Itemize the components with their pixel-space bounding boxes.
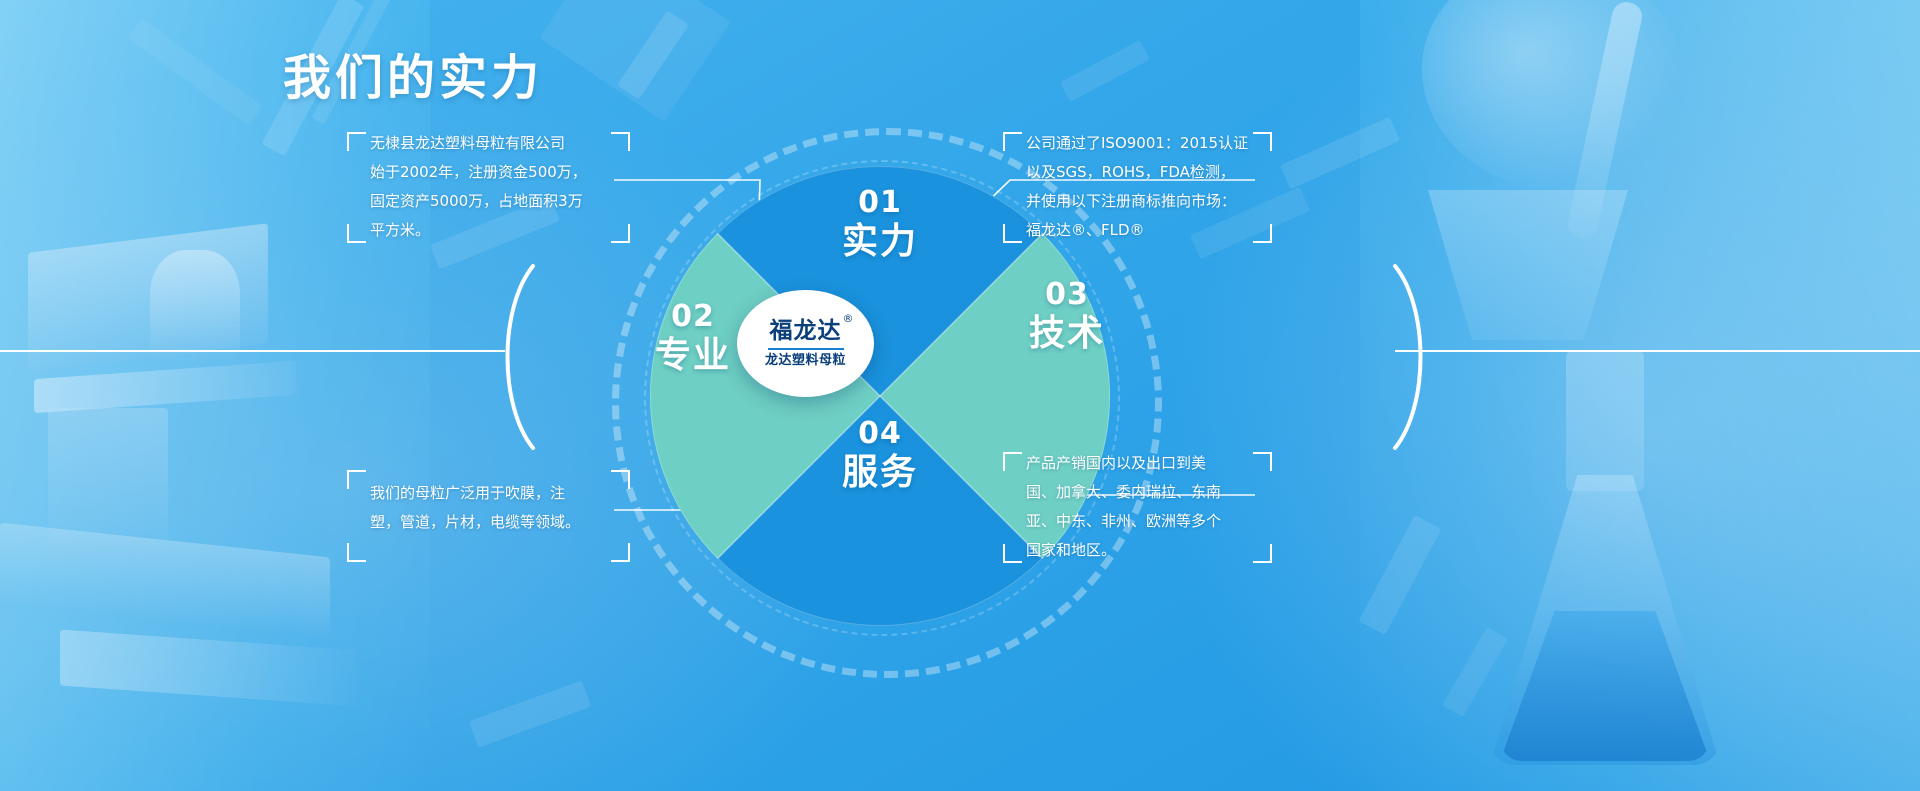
horizontal-rule-right	[1395, 350, 1920, 352]
logo-name: 福龙达 ®	[770, 320, 842, 343]
callout-line: 公司通过了ISO9001：2015认证	[1026, 129, 1250, 158]
page-title: 我们的实力	[283, 38, 543, 108]
corner-bracket-icon	[611, 132, 630, 151]
company-logo[interactable]: 福龙达 ® 龙达塑料母粒	[737, 290, 874, 397]
corner-bracket-icon	[1253, 544, 1272, 563]
right-bracket-arc	[1381, 262, 1441, 452]
logo-divider	[768, 348, 844, 350]
logo-subtitle: 龙达塑料母粒	[765, 354, 846, 367]
corner-bracket-icon	[347, 132, 366, 151]
flask-neck-shape	[1566, 351, 1644, 491]
logo-name-text: 福龙达	[770, 318, 842, 344]
corner-bracket-icon	[1253, 132, 1272, 151]
callout-line: 国、加拿大、委内瑞拉、东南	[1026, 478, 1250, 507]
corner-bracket-icon	[1003, 132, 1022, 151]
corner-bracket-icon	[347, 543, 366, 562]
corner-bracket-icon	[611, 224, 630, 243]
callout-service: 产品产销国内以及出口到美 国、加拿大、委内瑞拉、东南 亚、中东、非州、欧洲等多个…	[1026, 449, 1250, 565]
callout-line: 平方米。	[370, 216, 610, 245]
callout-line: 始于2002年，注册资金500万，	[370, 158, 610, 187]
registered-mark-icon: ®	[843, 313, 855, 324]
callout-line: 无棣县龙达塑料母粒有限公司	[370, 129, 610, 158]
callout-line: 国家和地区。	[1026, 536, 1250, 565]
callout-profession: 我们的母粒广泛用于吹膜，注 塑，管道，片材，电缆等领域。	[370, 479, 610, 537]
callout-line: 以及SGS，ROHS，FDA检测，	[1026, 158, 1250, 187]
page-root: 我们的实力	[0, 0, 1920, 791]
corner-bracket-icon	[1253, 452, 1272, 471]
callout-line: 福龙达®、FLD®	[1026, 216, 1250, 245]
callout-line: 塑，管道，片材，电缆等领域。	[370, 508, 610, 537]
callout-line: 产品产销国内以及出口到美	[1026, 449, 1250, 478]
corner-bracket-icon	[1003, 224, 1022, 243]
horizontal-rule-left	[0, 350, 505, 352]
corner-bracket-icon	[347, 224, 366, 243]
corner-bracket-icon	[1253, 224, 1272, 243]
left-bracket-arc	[487, 262, 547, 452]
microscope-lens-shape	[150, 250, 240, 360]
corner-bracket-icon	[1003, 544, 1022, 563]
callout-line: 我们的母粒广泛用于吹膜，注	[370, 479, 610, 508]
callout-line: 并使用以下注册商标推向市场：	[1026, 187, 1250, 216]
corner-bracket-icon	[1003, 452, 1022, 471]
callout-line: 亚、中东、非州、欧洲等多个	[1026, 507, 1250, 536]
callout-technology: 公司通过了ISO9001：2015认证 以及SGS，ROHS，FDA检测， 并使…	[1026, 129, 1250, 245]
callout-strength: 无棣县龙达塑料母粒有限公司 始于2002年，注册资金500万， 固定资产5000…	[370, 129, 610, 245]
corner-bracket-icon	[347, 470, 366, 489]
corner-bracket-icon	[611, 543, 630, 562]
callout-line: 固定资产5000万，占地面积3万	[370, 187, 610, 216]
corner-bracket-icon	[611, 470, 630, 489]
